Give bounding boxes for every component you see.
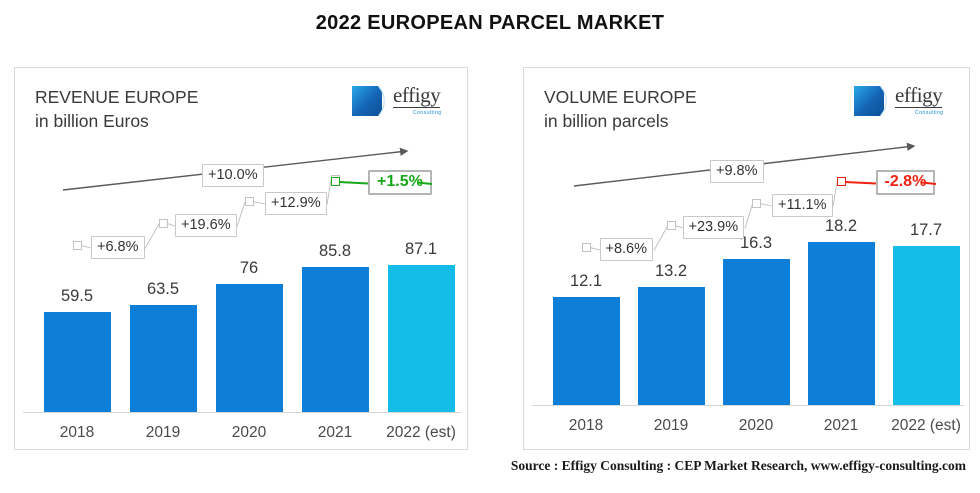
callout-connector — [167, 223, 175, 226]
growth-callout[interactable]: +6.8% — [91, 236, 145, 259]
bar-value-label: 76 — [209, 259, 289, 278]
callout-connector — [253, 201, 265, 204]
callout-connector — [653, 225, 667, 250]
callout-connector — [760, 203, 772, 206]
x-axis-label: 2019 — [623, 417, 719, 435]
bar-2022-est-[interactable] — [893, 246, 960, 405]
bar-value-label: 59.5 — [37, 287, 117, 306]
bar-2020[interactable] — [723, 259, 790, 405]
callout-connector — [145, 223, 160, 248]
bar-value-label: 17.7 — [886, 221, 966, 240]
growth-callout[interactable]: +19.6% — [175, 214, 237, 237]
growth-callout[interactable]: +8.6% — [600, 238, 654, 261]
bar-2019[interactable] — [130, 305, 197, 412]
bar-2019[interactable] — [638, 287, 705, 405]
x-axis-label: 2019 — [115, 424, 211, 442]
x-axis-line — [23, 412, 461, 413]
cagr-callout[interactable]: +10.0% — [202, 164, 264, 187]
plot-area-revenue: 59.5201863.5201976202085.8202187.12022 (… — [15, 68, 467, 449]
growth-callout[interactable]: +11.1% — [772, 194, 833, 217]
x-axis-label: 2022 (est) — [878, 417, 974, 435]
x-axis-label: 2020 — [201, 424, 297, 442]
x-axis-label: 2021 — [287, 424, 383, 442]
bar-2018[interactable] — [44, 312, 111, 412]
chart-panel-volume: VOLUME EUROPE in billion parcels effigy … — [523, 67, 970, 450]
bar-2022-est-[interactable] — [388, 265, 455, 412]
x-axis-label: 2018 — [538, 417, 634, 435]
bar-value-label: 63.5 — [123, 280, 203, 299]
x-axis-label: 2021 — [793, 417, 889, 435]
chart-panel-revenue: REVENUE EUROPE in billion Euros effigy C… — [14, 67, 468, 450]
bar-2021[interactable] — [302, 267, 369, 412]
plot-area-volume: 12.1201813.2201916.3202018.2202117.72022… — [524, 68, 969, 449]
bar-value-label: 13.2 — [631, 262, 711, 281]
callout-connector — [675, 225, 683, 228]
growth-callout[interactable]: +23.9% — [683, 216, 745, 239]
x-axis-label: 2020 — [708, 417, 804, 435]
source-note: Source : Effigy Consulting : CEP Market … — [0, 458, 966, 474]
bar-2018[interactable] — [553, 297, 620, 405]
bar-2020[interactable] — [216, 284, 283, 412]
x-axis-label: 2022 (est) — [373, 424, 469, 442]
cagr-callout[interactable]: +9.8% — [710, 160, 764, 183]
bar-value-label: 18.2 — [801, 217, 881, 236]
x-axis-line — [532, 405, 964, 406]
callout-connector — [590, 247, 600, 250]
growth-callout[interactable]: +12.9% — [265, 192, 327, 215]
bar-value-label: 12.1 — [546, 272, 626, 291]
bar-value-label: 85.8 — [295, 242, 375, 261]
callout-connector — [81, 245, 91, 248]
bar-value-label: 87.1 — [381, 240, 461, 259]
page-title: 2022 EUROPEAN PARCEL MARKET — [0, 12, 980, 35]
bar-2021[interactable] — [808, 242, 875, 405]
x-axis-label: 2018 — [29, 424, 125, 442]
